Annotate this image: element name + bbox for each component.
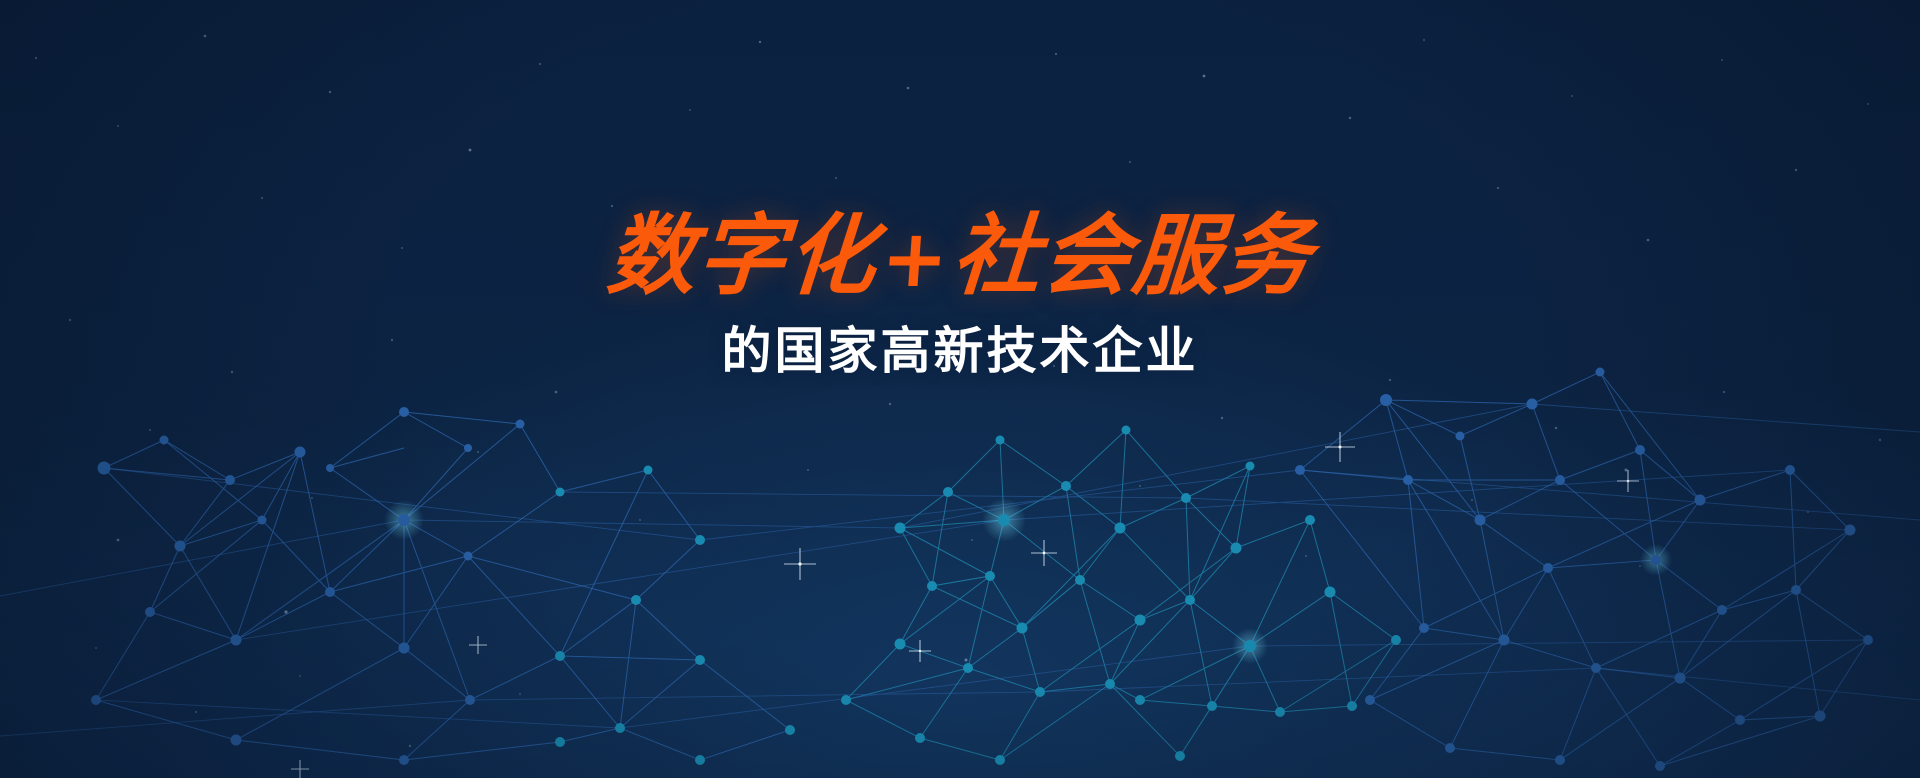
- headline-right-text: 社会服务: [949, 204, 1316, 307]
- sparkle-stars-graphic: [0, 0, 1920, 778]
- page-title: 数字化+社会服务: [0, 212, 1920, 300]
- page-subtitle: 的国家高新技术企业: [0, 326, 1920, 376]
- headline-left-text: 数字化: [604, 204, 881, 307]
- hero-banner: 数字化+社会服务 的国家高新技术企业: [0, 0, 1920, 778]
- headline-plus-symbol: +: [874, 212, 956, 305]
- hero-text-block: 数字化+社会服务 的国家高新技术企业: [0, 212, 1920, 376]
